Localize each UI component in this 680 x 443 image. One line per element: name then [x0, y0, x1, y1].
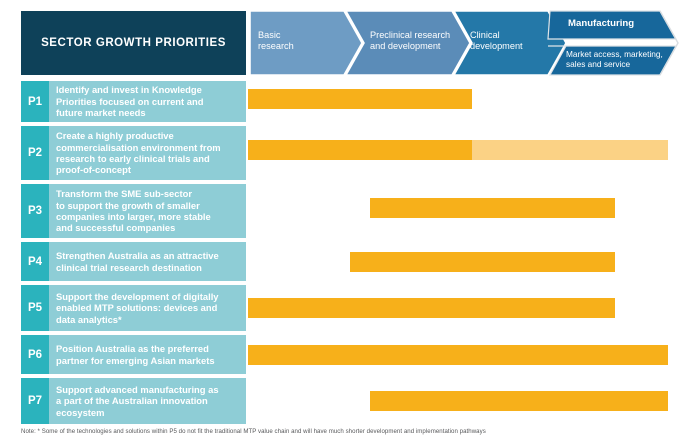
priority-row: P6Position Australia as the preferred pa… — [0, 335, 680, 374]
chart-header: SECTOR GROWTH PRIORITIES Basic research … — [0, 0, 680, 78]
bar-segment-primary — [248, 298, 615, 318]
priority-row: P3Transform the SME sub-sector to suppor… — [0, 184, 680, 238]
priority-bar-p7[interactable] — [370, 391, 668, 411]
bar-segment-primary — [370, 198, 615, 218]
value-chain-chevrons — [0, 0, 680, 78]
footnote: Note: * Some of the technologies and sol… — [21, 428, 671, 436]
priority-label-cell[interactable]: P1Identify and invest in Knowledge Prior… — [21, 81, 246, 122]
chevron-market-access-marketing-sales-and-service[interactable] — [548, 46, 676, 75]
priority-description-p1: Identify and invest in Knowledge Priorit… — [49, 81, 246, 122]
priority-label-cell[interactable]: P4Strengthen Australia as an attractive … — [21, 242, 246, 281]
bar-segment-primary — [370, 391, 668, 411]
bar-segment-primary — [248, 89, 472, 109]
priority-code-p7: P7 — [21, 378, 49, 424]
priority-bar-p5[interactable] — [248, 298, 615, 318]
bar-segment-primary — [350, 252, 615, 272]
priority-row: P1Identify and invest in Knowledge Prior… — [0, 81, 680, 122]
priority-description-p7: Support advanced manufacturing as a part… — [49, 378, 246, 424]
priority-code-p2: P2 — [21, 126, 49, 180]
sector-growth-priorities-chart: SECTOR GROWTH PRIORITIES Basic research … — [0, 0, 680, 443]
priority-description-p2: Create a highly productive commercialisa… — [49, 126, 246, 180]
chevron-manufacturing[interactable] — [548, 11, 676, 39]
priority-label-cell[interactable]: P7Support advanced manufacturing as a pa… — [21, 378, 246, 424]
priority-bar-p4[interactable] — [350, 252, 615, 272]
chevron-preclinical-research-and-development[interactable] — [346, 11, 470, 75]
priority-row: P7Support advanced manufacturing as a pa… — [0, 378, 680, 424]
priority-label-cell[interactable]: P2Create a highly productive commerciali… — [21, 126, 246, 180]
priority-description-p3: Transform the SME sub-sector to support … — [49, 184, 246, 238]
priority-bar-p1[interactable] — [248, 89, 472, 109]
priority-row: P5Support the development of digitally e… — [0, 285, 680, 331]
priority-bar-p3[interactable] — [370, 198, 615, 218]
bar-segment-primary — [248, 345, 668, 365]
priority-bar-p6[interactable] — [248, 345, 668, 365]
priority-code-p4: P4 — [21, 242, 49, 281]
priority-row: P4Strengthen Australia as an attractive … — [0, 242, 680, 281]
priority-label-cell[interactable]: P6Position Australia as the preferred pa… — [21, 335, 246, 374]
priority-row: P2Create a highly productive commerciali… — [0, 126, 680, 180]
chevron-basic-research[interactable] — [250, 11, 362, 75]
priority-code-p1: P1 — [21, 81, 49, 122]
priority-description-p6: Position Australia as the preferred part… — [49, 335, 246, 374]
priority-bar-p2[interactable] — [248, 140, 668, 160]
bar-segment-primary — [248, 140, 472, 160]
priority-code-p6: P6 — [21, 335, 49, 374]
priority-code-p5: P5 — [21, 285, 49, 331]
bar-segment-secondary — [472, 140, 668, 160]
priority-label-cell[interactable]: P5Support the development of digitally e… — [21, 285, 246, 331]
priority-description-p5: Support the development of digitally ena… — [49, 285, 246, 331]
priority-description-p4: Strengthen Australia as an attractive cl… — [49, 242, 246, 281]
priority-label-cell[interactable]: P3Transform the SME sub-sector to suppor… — [21, 184, 246, 238]
priority-code-p3: P3 — [21, 184, 49, 238]
